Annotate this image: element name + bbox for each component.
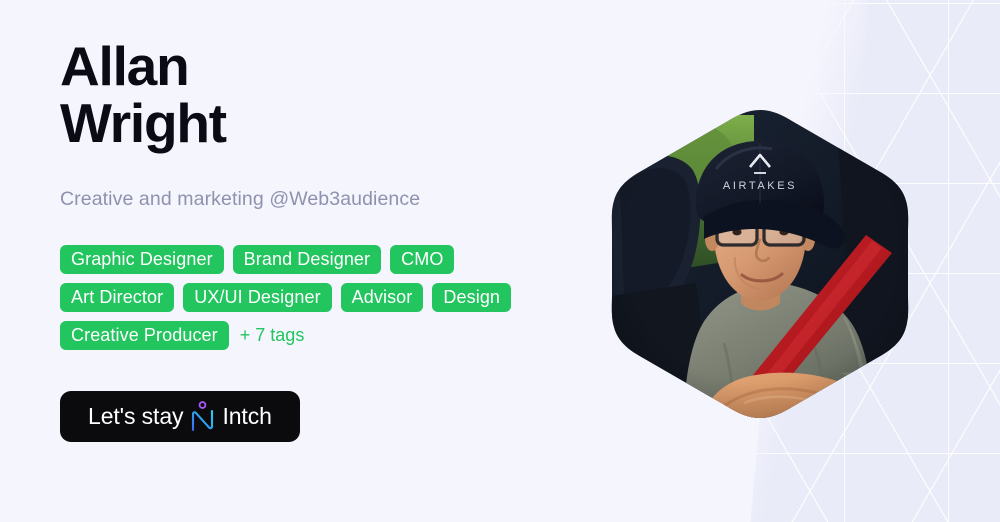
profile-headline: Creative and marketing @Web3audience bbox=[60, 188, 600, 211]
profile-photo: AIRTAKES bbox=[604, 107, 916, 421]
cta-label-after: Intch bbox=[222, 403, 271, 430]
tag-chip[interactable]: Brand Designer bbox=[233, 245, 381, 274]
more-tags-label[interactable]: + 7 tags bbox=[238, 325, 305, 346]
tag-chip[interactable]: Graphic Designer bbox=[60, 245, 224, 274]
tag-chip[interactable]: Design bbox=[432, 283, 511, 312]
tag-chip[interactable]: Creative Producer bbox=[60, 321, 229, 350]
profile-card: AIRTAKES Allan Wright Creative and marke… bbox=[0, 0, 1000, 522]
tag-chip[interactable]: Advisor bbox=[341, 283, 424, 312]
page-title: Allan Wright bbox=[60, 38, 600, 151]
tag-chip[interactable]: CMO bbox=[390, 245, 454, 274]
profile-photo-hexagon: AIRTAKES bbox=[604, 107, 916, 421]
cta-label-before: Let's stay bbox=[88, 403, 183, 430]
tag-chip[interactable]: UX/UI Designer bbox=[183, 283, 331, 312]
tag-chip[interactable]: Art Director bbox=[60, 283, 174, 312]
profile-content: Allan Wright Creative and marketing @Web… bbox=[60, 38, 600, 442]
lets-stay-intch-button[interactable]: Let's stay Intch bbox=[60, 391, 300, 442]
tag-list: Graphic Designer Brand Designer CMO Art … bbox=[60, 245, 530, 350]
intch-n-logo-icon bbox=[190, 401, 215, 432]
